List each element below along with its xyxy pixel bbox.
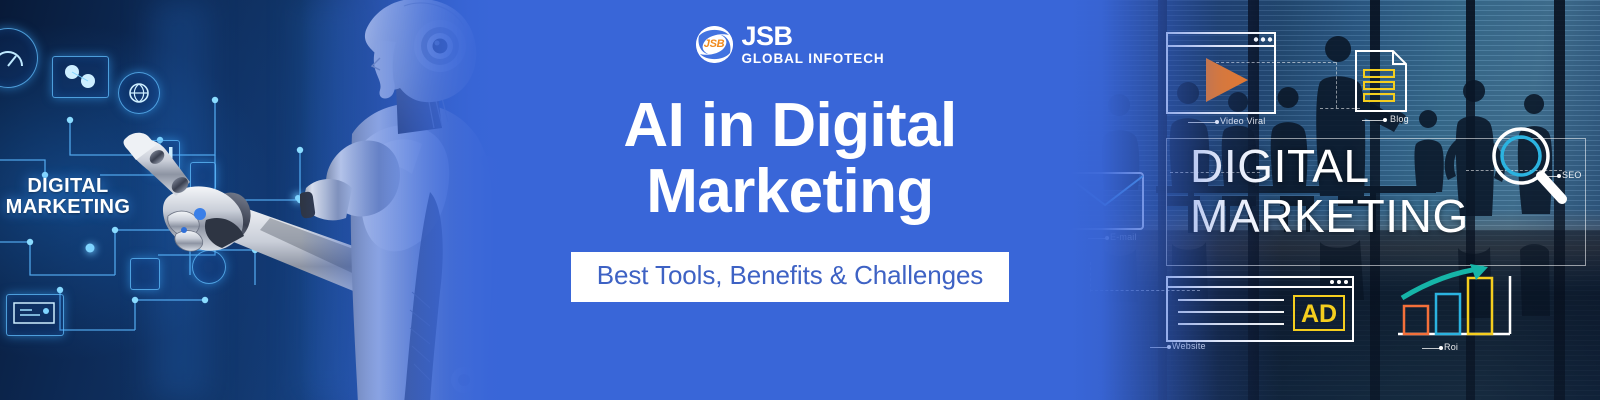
- video-viral-icon: [1166, 32, 1276, 114]
- center-content: JSB JSB GLOBAL INFOTECH AI in Digital Ma…: [470, 0, 1110, 400]
- left-caption-line2: MARKETING: [6, 196, 131, 218]
- blog-document-icon: [1355, 50, 1407, 112]
- website-ad-icon: AD: [1166, 276, 1354, 342]
- banner-root: DIGITAL MARKETING: [0, 0, 1600, 400]
- left-panel-caption: DIGITAL MARKETING: [0, 176, 138, 217]
- seo-label: SEO: [1562, 170, 1582, 180]
- roi-label: Roi: [1444, 342, 1458, 352]
- roi-leader: [1422, 348, 1440, 349]
- seo-magnifier-icon: [1486, 122, 1572, 208]
- left-hero-image: DIGITAL MARKETING: [0, 0, 520, 400]
- right-caption-line2: MARKETING: [1190, 190, 1469, 242]
- monitor-glyph-icon: [12, 300, 58, 330]
- globe-glyph-icon: [126, 80, 152, 106]
- page-title: AI in Digital Marketing: [623, 93, 956, 224]
- video-viral-leader: [1188, 122, 1216, 123]
- website-label: Website: [1172, 341, 1206, 351]
- right-hero-image: Video Viral Blog E-mail SEO: [1070, 0, 1600, 400]
- subtitle-box: Best Tools, Benefits & Challenges: [571, 252, 1009, 302]
- subtitle-text: Best Tools, Benefits & Challenges: [597, 260, 983, 290]
- headline-line1: AI in Digital: [623, 91, 956, 160]
- logo-main-text: JSB: [742, 23, 885, 49]
- right-panel-caption: DIGITAL MARKETING: [1190, 142, 1469, 241]
- seo-leader: [1540, 176, 1558, 177]
- svg-text:AD: AD: [1301, 300, 1337, 328]
- blog-label: Blog: [1390, 114, 1409, 124]
- headline-line2: Marketing: [646, 157, 933, 226]
- website-leader: [1150, 347, 1168, 348]
- logo-mark-text: JSB: [704, 39, 725, 50]
- logo-sub-text: GLOBAL INFOTECH: [742, 52, 885, 66]
- video-viral-label: Video Viral: [1220, 116, 1265, 126]
- connector-line-vertical: [1336, 62, 1337, 108]
- email-label: E-mail: [1110, 232, 1137, 242]
- blog-leader: [1362, 120, 1384, 121]
- gauge-glyph-icon: [0, 32, 34, 84]
- jsb-circle-swoosh-icon: JSB: [696, 26, 733, 63]
- network-nodes-glyph-icon: [60, 62, 102, 92]
- left-caption-line1: DIGITAL: [27, 175, 108, 197]
- connector-line-mid: [1320, 108, 1360, 109]
- brand-logo[interactable]: JSB JSB GLOBAL INFOTECH: [696, 23, 885, 66]
- right-caption-line1: DIGITAL: [1190, 140, 1370, 192]
- roi-bar-chart-icon: [1388, 262, 1518, 344]
